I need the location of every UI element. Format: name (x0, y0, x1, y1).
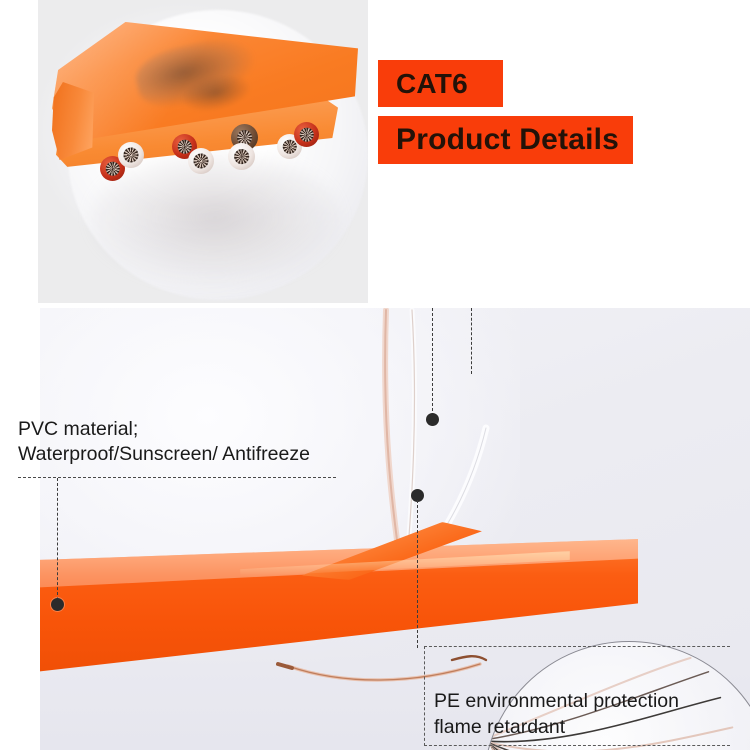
annotation-pvc: PVC material;Waterproof/Sunscreen/ Antif… (18, 417, 310, 467)
annotation-pvc-line2: Waterproof/Sunscreen/ Antifreeze (18, 443, 310, 465)
leader-line-pe (417, 500, 418, 648)
cable-print-marking (131, 31, 261, 115)
cable-print-marking-secondary (177, 69, 254, 117)
conductor-pair2-white (188, 148, 214, 174)
annotation-pvc-line1: PVC material; (18, 418, 138, 440)
callout-dot-strand-upper (426, 413, 439, 426)
cable-left-edge (52, 82, 94, 160)
product-detail-image: CAT6 Product Details (0, 0, 750, 750)
leader-line-strand-upper (432, 308, 433, 416)
conductor-pair3-white (228, 143, 255, 170)
annotation-pvc-underline (18, 477, 336, 478)
conductor-pair4-colored (294, 122, 319, 147)
badge-cat6: CAT6 (378, 60, 503, 107)
badge-product-details: Product Details (378, 116, 633, 164)
leader-line-lens (471, 308, 472, 374)
leader-line-pvc (57, 478, 58, 600)
callout-dot-pvc (51, 598, 64, 611)
annotation-pe-line1: PE environmental protection (434, 690, 679, 712)
annotation-pe-line2: flame retardant (434, 716, 565, 738)
cable-cross-section (56, 30, 356, 220)
conductor-pair1-white (118, 142, 144, 168)
annotation-pe: PE environmental protectionflame retarda… (434, 688, 679, 740)
top-photo-panel (38, 0, 368, 303)
